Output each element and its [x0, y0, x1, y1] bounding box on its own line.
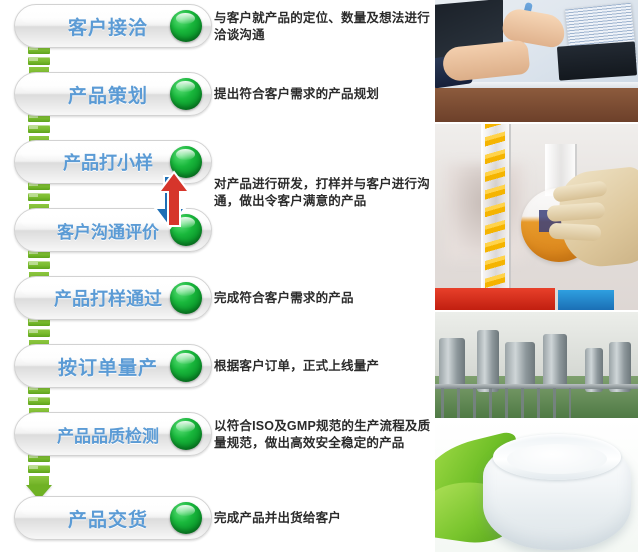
yellow-coil-shape: [485, 124, 505, 300]
flow-column: 客户接洽 与客户就产品的定位、数量及想法进行洽谈沟通 产品策划 提出符合客户需求…: [0, 0, 435, 552]
connector-dash: [28, 193, 50, 201]
process-flow-infographic: 客户接洽 与客户就产品的定位、数量及想法进行洽谈沟通 产品策划 提出符合客户需求…: [0, 0, 638, 552]
step-description-2: 提出符合客户需求的产品规划: [214, 86, 436, 103]
connector-dash: [28, 57, 50, 65]
factory-wall: [435, 312, 638, 376]
bidirectional-arrow: [152, 168, 198, 234]
step-label: 按订单量产: [40, 344, 176, 388]
green-circle-bullet-icon: [170, 502, 202, 534]
step-description-7: 以符合ISO及GMP规范的生产流程及质量规范，做出高效安全稳定的产品: [214, 418, 436, 452]
flow-step-5[interactable]: 产品打样通过: [14, 276, 212, 320]
step-label: 产品品质检测: [40, 412, 176, 456]
steel-tank: [505, 342, 535, 388]
connector-dash: [28, 125, 50, 133]
connector-dash: [28, 397, 50, 405]
step-description-8: 完成产品并出货给客户: [214, 510, 436, 527]
steel-tank: [477, 330, 499, 392]
steel-tank: [439, 338, 465, 388]
green-circle-bullet-icon: [170, 78, 202, 110]
green-circle-bullet-icon: [170, 282, 202, 314]
step-description-1: 与客户就产品的定位、数量及想法进行洽谈沟通: [214, 10, 436, 44]
green-circle-bullet-icon: [170, 350, 202, 382]
steel-tank: [543, 334, 567, 388]
glove-finger: [549, 223, 602, 242]
step-label: 产品交货: [40, 496, 176, 540]
blue-container-shape: [558, 290, 614, 310]
photo-column: [435, 0, 638, 552]
green-circle-bullet-icon: [170, 418, 202, 450]
connector-7-8: [26, 454, 52, 500]
red-liquid-shape: [435, 288, 555, 310]
flow-step-2[interactable]: 产品策划: [14, 72, 212, 116]
flow-step-8[interactable]: 产品交货: [14, 496, 212, 540]
laboratory-glassware-photo: [435, 124, 638, 310]
step-description-6: 根据客户订单，正式上线量产: [214, 358, 436, 375]
machine-frame: [441, 388, 571, 418]
connector-dash: [28, 465, 50, 473]
folder-shape: [557, 41, 637, 80]
cream-surface: [507, 444, 607, 474]
step-label: 产品打样通过: [40, 276, 176, 320]
business-meeting-photo: [435, 0, 638, 122]
step-description-5: 完成符合客户需求的产品: [214, 290, 436, 307]
step-label: 客户接洽: [40, 4, 176, 48]
green-circle-bullet-icon: [170, 10, 202, 42]
step-description-3: 对产品进行研发，打样并与客户进行沟通，做出令客户满意的产品: [214, 176, 436, 210]
desk-surface: [435, 88, 638, 122]
flow-step-1[interactable]: 客户接洽: [14, 4, 212, 48]
flow-step-7[interactable]: 产品品质检测: [14, 412, 212, 456]
factory-equipment-photo: [435, 312, 638, 418]
connector-dash: [28, 329, 50, 337]
flow-step-6[interactable]: 按订单量产: [14, 344, 212, 388]
step-label: 产品策划: [40, 72, 176, 116]
connector-dash: [28, 261, 50, 269]
cream-jar-aloe-photo: [435, 420, 638, 552]
